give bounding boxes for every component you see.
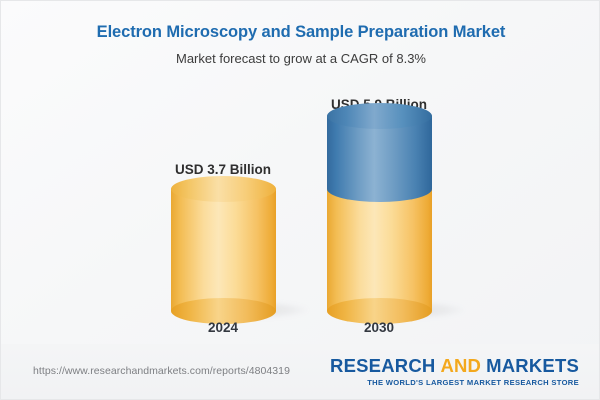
page-title: Electron Microscopy and Sample Preparati…: [1, 1, 600, 42]
chart-header: Electron Microscopy and Sample Preparati…: [1, 1, 600, 67]
report-url-link[interactable]: https://www.researchandmarkets.com/repor…: [33, 365, 290, 378]
cylinder-top-ellipse: [327, 103, 432, 129]
bar-segment-base-2024[interactable]: [171, 189, 276, 311]
segment-bottom-ellipse: [327, 176, 432, 202]
bar-group-2030: USD 5.9 Billion 2030: [299, 86, 459, 346]
logo-word-research: RESEARCH: [330, 355, 435, 376]
infographic-card: Electron Microscopy and Sample Preparati…: [0, 0, 600, 400]
logo-word-and: AND: [440, 355, 481, 376]
cylinder-2024: [171, 189, 276, 311]
segment-body-overlay: [327, 189, 432, 298]
logo-word-markets: MARKETS: [486, 355, 579, 376]
bar-segment-base-2030[interactable]: [327, 189, 432, 311]
bar-group-2024: USD 3.7 Billion 2024: [143, 86, 303, 346]
logo-wordmark: RESEARCHANDMARKETS: [330, 356, 579, 376]
bar-chart-plot-area: USD 3.7 Billion 2024 USD 5.9 Billion: [1, 86, 600, 346]
research-and-markets-logo[interactable]: RESEARCHANDMARKETS THE WORLD'S LARGEST M…: [330, 356, 579, 388]
footer-bar: https://www.researchandmarkets.com/repor…: [1, 344, 600, 399]
category-label-2024: 2024: [143, 320, 303, 336]
category-label-2030: 2030: [299, 320, 459, 336]
cylinder-2030: [327, 116, 432, 311]
chart-subtitle: Market forecast to grow at a CAGR of 8.3…: [1, 42, 600, 67]
cylinder-top-ellipse: [171, 176, 276, 202]
logo-tagline: THE WORLD'S LARGEST MARKET RESEARCH STOR…: [330, 377, 579, 388]
segment-body-overlay: [171, 189, 276, 298]
bar-segment-growth-2030[interactable]: [327, 116, 432, 189]
